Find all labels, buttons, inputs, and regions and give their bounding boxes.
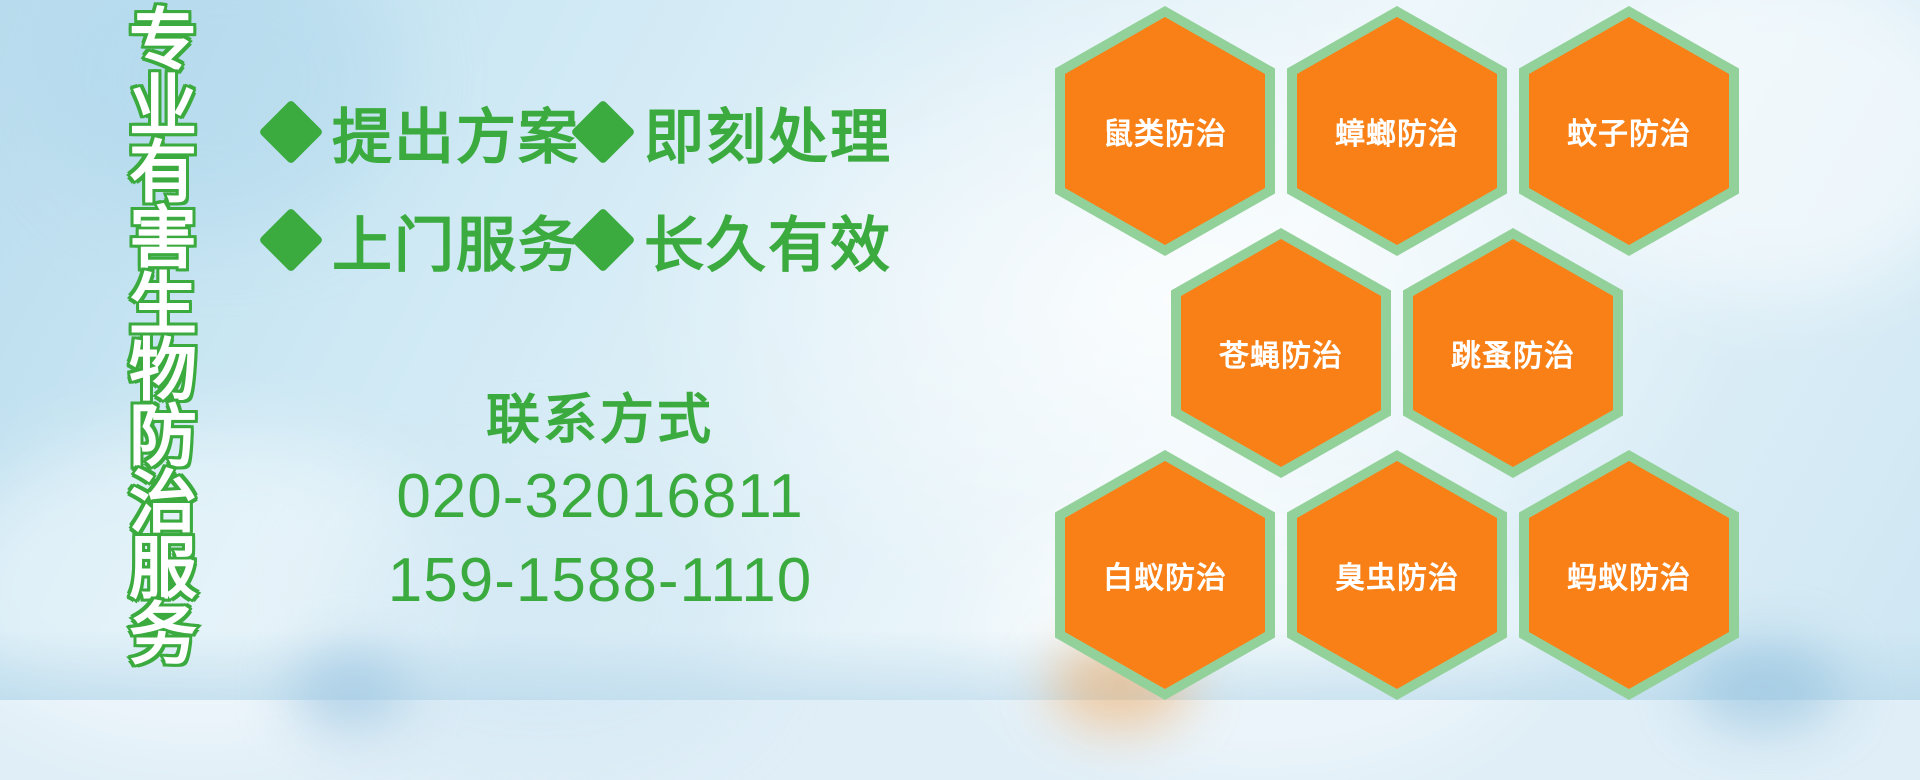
vertical-headline: 专 业 有 害 生 物 防 治 服 务 xyxy=(108,8,218,688)
service-hex-rodent[interactable]: 鼠类防治 xyxy=(1055,6,1275,256)
promo-banner: 专 业 有 害 生 物 防 治 服 务 提出方案 即刻处理 上门服务 xyxy=(0,0,1920,700)
vertical-headline-char: 服 xyxy=(129,536,197,602)
vertical-headline-char: 务 xyxy=(129,602,197,668)
diamond-icon xyxy=(570,207,635,272)
vertical-headline-char: 业 xyxy=(129,74,197,140)
service-hex-ant[interactable]: 蚂蚁防治 xyxy=(1519,450,1739,700)
contact-block: 联系方式 020-32016811 159-1588-1110 xyxy=(250,385,950,623)
feature-label: 提出方案 xyxy=(332,89,580,176)
service-label: 蚂蚁防治 xyxy=(1567,553,1691,597)
contact-title: 联系方式 xyxy=(250,385,950,455)
service-hex-grid: 鼠类防治 蟑螂防治 蚊子防治 苍蝇防治 跳蚤防治 白蚁防治 xyxy=(1055,0,1845,700)
hex-inner: 蟑螂防治 xyxy=(1297,17,1497,245)
service-label: 臭虫防治 xyxy=(1335,553,1459,597)
service-label: 白蚁防治 xyxy=(1103,553,1227,597)
feature-item: 提出方案 xyxy=(268,89,580,176)
feature-row: 提出方案 即刻处理 xyxy=(268,78,868,186)
service-label: 蚊子防治 xyxy=(1567,109,1691,153)
hex-inner: 蚊子防治 xyxy=(1529,17,1729,245)
feature-list: 提出方案 即刻处理 上门服务 长久有效 xyxy=(268,78,868,294)
vertical-headline-char: 生 xyxy=(129,272,197,338)
hex-inner: 跳蚤防治 xyxy=(1413,239,1613,467)
diamond-icon xyxy=(258,207,323,272)
feature-label: 上门服务 xyxy=(332,197,580,284)
diamond-icon xyxy=(258,99,323,164)
feature-item: 上门服务 xyxy=(268,197,580,284)
feature-item: 即刻处理 xyxy=(580,89,892,176)
phone-number-mobile[interactable]: 159-1588-1110 xyxy=(250,539,950,623)
feature-item: 长久有效 xyxy=(580,197,892,284)
phone-number-landline[interactable]: 020-32016811 xyxy=(250,455,950,539)
service-hex-fly[interactable]: 苍蝇防治 xyxy=(1171,228,1391,478)
vertical-headline-char: 物 xyxy=(129,338,197,404)
service-hex-bedbug[interactable]: 臭虫防治 xyxy=(1287,450,1507,700)
vertical-headline-char: 专 xyxy=(129,8,197,74)
feature-label: 即刻处理 xyxy=(644,89,892,176)
service-hex-cockroach[interactable]: 蟑螂防治 xyxy=(1287,6,1507,256)
feature-label: 长久有效 xyxy=(644,197,892,284)
hex-inner: 臭虫防治 xyxy=(1297,461,1497,689)
vertical-headline-char: 防 xyxy=(129,404,197,470)
service-label: 跳蚤防治 xyxy=(1451,331,1575,375)
vertical-headline-char: 有 xyxy=(129,140,197,206)
hex-inner: 鼠类防治 xyxy=(1065,17,1265,245)
service-label: 蟑螂防治 xyxy=(1335,109,1459,153)
service-hex-flea[interactable]: 跳蚤防治 xyxy=(1403,228,1623,478)
vertical-headline-char: 害 xyxy=(129,206,197,272)
service-hex-termite[interactable]: 白蚁防治 xyxy=(1055,450,1275,700)
hex-inner: 蚂蚁防治 xyxy=(1529,461,1729,689)
hex-inner: 苍蝇防治 xyxy=(1181,239,1381,467)
service-label: 苍蝇防治 xyxy=(1219,331,1343,375)
hex-inner: 白蚁防治 xyxy=(1065,461,1265,689)
background-blob xyxy=(290,650,410,730)
diamond-icon xyxy=(570,99,635,164)
service-label: 鼠类防治 xyxy=(1103,109,1227,153)
vertical-headline-char: 治 xyxy=(129,470,197,536)
service-hex-mosquito[interactable]: 蚊子防治 xyxy=(1519,6,1739,256)
feature-row: 上门服务 长久有效 xyxy=(268,186,868,294)
